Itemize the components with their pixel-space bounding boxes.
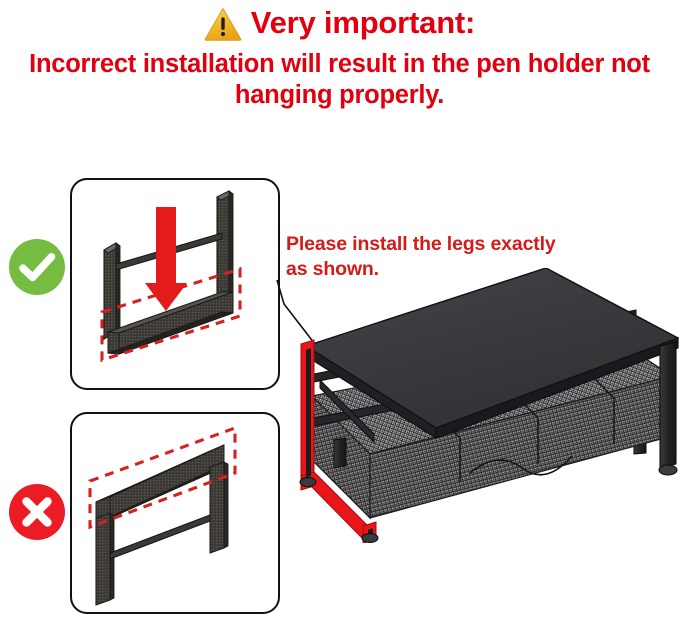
left-upright-post bbox=[104, 243, 120, 339]
lower-cross-brace bbox=[110, 515, 210, 559]
page-title: Very important: bbox=[251, 6, 475, 40]
green-check-circle-icon bbox=[8, 238, 66, 296]
header-subtitle: Incorrect installation will result in th… bbox=[0, 49, 679, 111]
header-title-row: Very important: bbox=[0, 0, 679, 46]
rear-left-foot bbox=[334, 438, 346, 468]
front-right-leg bbox=[659, 342, 677, 475]
warning-triangle-icon bbox=[204, 7, 242, 41]
leg-bracket-u-shape-opening-up-diagram bbox=[72, 180, 278, 388]
instruction-sheet: Very important: Incorrect installation w… bbox=[0, 0, 679, 621]
panel-correct-installation bbox=[70, 178, 280, 390]
right-upright-post bbox=[217, 191, 233, 301]
red-x-circle-icon bbox=[8, 483, 66, 541]
panel-incorrect-installation bbox=[70, 412, 280, 614]
leg-bracket-u-shape-inverted-diagram bbox=[72, 414, 278, 612]
product-illustration bbox=[284, 268, 679, 543]
header: Very important: Incorrect installation w… bbox=[0, 0, 679, 111]
